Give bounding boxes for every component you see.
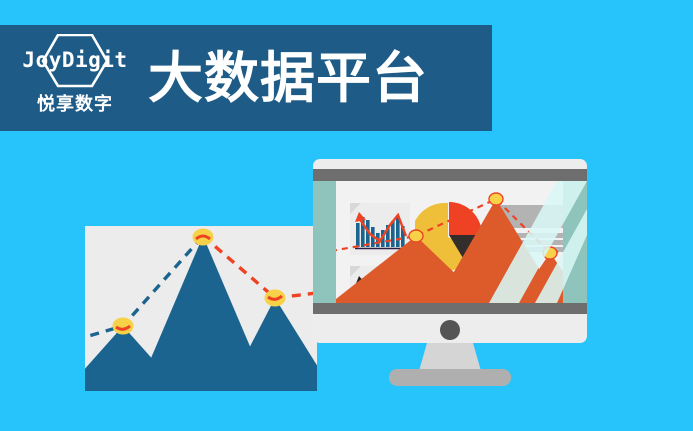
page-title: 大数据平台 [148, 51, 428, 106]
brand-logo: JoyDigit 悦享数字 [14, 32, 136, 124]
power-indicator-icon [440, 320, 460, 340]
monitor-stand [389, 343, 511, 388]
stand-base [389, 369, 511, 386]
data-point-marker [489, 193, 503, 205]
poster-canvas: JoyDigit 悦享数字 大数据平台 [0, 0, 693, 431]
blue-mountain-chart [85, 226, 317, 391]
data-point-marker [265, 290, 286, 307]
monitor-bottom-bezel [313, 303, 587, 314]
stand-neck [419, 343, 481, 371]
data-point-marker [543, 247, 557, 259]
blue-mountain-graphic [85, 226, 317, 391]
data-point-marker [409, 230, 423, 242]
brand-logo-wordmark: JoyDigit [14, 48, 136, 72]
monitor-top-bezel [313, 169, 587, 181]
trend-line-dashed [336, 199, 563, 253]
monitor-screen [313, 181, 587, 303]
data-point-marker [113, 318, 134, 335]
orange-mountain-chart [336, 181, 563, 303]
brand-logo-subtitle: 悦享数字 [14, 90, 136, 116]
data-point-marker [193, 229, 214, 246]
header-banner: JoyDigit 悦享数字 大数据平台 [0, 25, 492, 131]
monitor-device [313, 159, 587, 343]
